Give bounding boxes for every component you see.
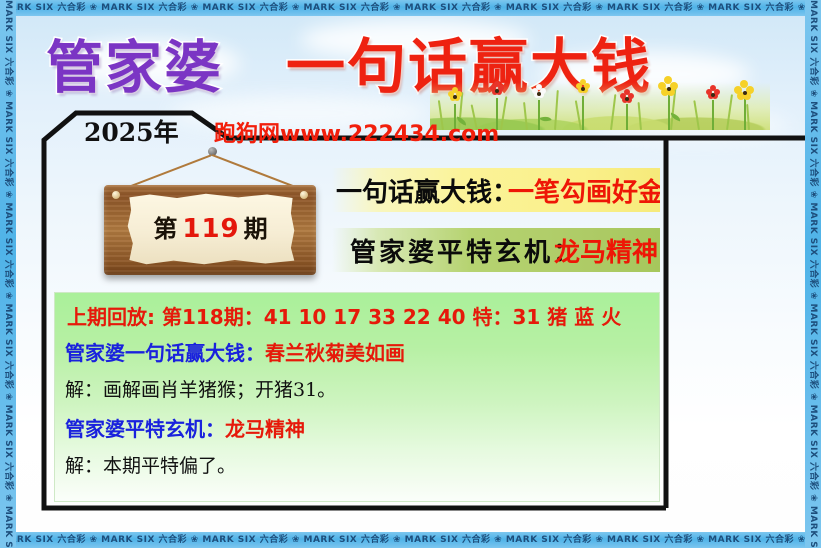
border-pattern-text: MARK SIX 六合彩 ❀ MARK SIX 六合彩 ❀ MARK SIX 六… [805,0,821,548]
lottery-poster: MARK SIX 六合彩 ❀ MARK SIX 六合彩 ❀ MARK SIX 六… [0,0,821,548]
border-pattern-text: MARK SIX 六合彩 ❀ MARK SIX 六合彩 ❀ MARK SIX 六… [0,535,821,545]
review-line-4-value: 龙马精神 [225,417,305,441]
issue-prefix: 第 [153,214,178,243]
review-line-3: 解：画解画肖羊猪猴；开猪31。 [65,375,336,402]
review-line-4-key: 管家婆平特玄机： [65,417,225,441]
banner-slogan: 一句话赢大钱： 一笔勾画好金秋 [332,168,660,212]
issue-sign: 第119期 [100,150,320,280]
review-line-2-key: 管家婆一句话赢大钱： [65,341,265,365]
border-pattern-text: MARK SIX 六合彩 ❀ MARK SIX 六合彩 ❀ MARK SIX 六… [0,0,16,548]
review-line-4: 管家婆平特玄机：龙马精神 [65,413,305,442]
banner-slogan-value: 一笔勾画好金秋 [508,172,660,209]
site-url-label[interactable]: 跑狗网www.222434.com [214,122,499,148]
review-line-1-key: 上期回放: [67,305,155,329]
border-pattern-text: MARK SIX 六合彩 ❀ MARK SIX 六合彩 ❀ MARK SIX 六… [0,3,821,13]
year-label: 2025年 [84,119,179,147]
issue-paper: 第119期 [126,193,296,265]
border-strip-left: MARK SIX 六合彩 ❀ MARK SIX 六合彩 ❀ MARK SIX 六… [0,0,16,548]
brand-title: 管家婆 [46,38,223,98]
banner-pingte: 管家婆平特玄机： 龙马精神 [332,228,660,272]
issue-text: 第119期 [153,216,268,242]
review-line-5: 解：本期平特偏了。 [65,451,236,478]
slogan-title: 一句话赢大钱 [286,36,652,98]
review-line-2: 管家婆一句话赢大钱：春兰秋菊美如画 [65,337,405,366]
banner-slogan-label: 一句话赢大钱： [336,172,518,209]
issue-number: 119 [182,214,239,244]
issue-suffix: 期 [244,214,269,243]
review-line-1-value: 第118期：41 10 17 33 22 40 特：31 猪 蓝 火 [162,305,621,329]
review-line-1: 上期回放: 第118期：41 10 17 33 22 40 特：31 猪 蓝 火 [67,301,621,330]
border-strip-top: MARK SIX 六合彩 ❀ MARK SIX 六合彩 ❀ MARK SIX 六… [0,0,821,16]
board-hole-left [112,191,120,199]
border-strip-bottom: MARK SIX 六合彩 ❀ MARK SIX 六合彩 ❀ MARK SIX 六… [0,532,821,548]
banner-pingte-label: 管家婆平特玄机： [350,232,582,269]
banner-pingte-value: 龙马精神 [554,232,658,269]
wooden-board: 第119期 [104,185,316,275]
review-line-2-value: 春兰秋菊美如画 [265,341,405,365]
border-strip-right: MARK SIX 六合彩 ❀ MARK SIX 六合彩 ❀ MARK SIX 六… [805,0,821,548]
masthead: 管家婆 一句话赢大钱 [16,16,805,121]
previous-issue-card: 上期回放: 第118期：41 10 17 33 22 40 特：31 猪 蓝 火… [54,292,660,502]
board-hole-right [300,191,308,199]
